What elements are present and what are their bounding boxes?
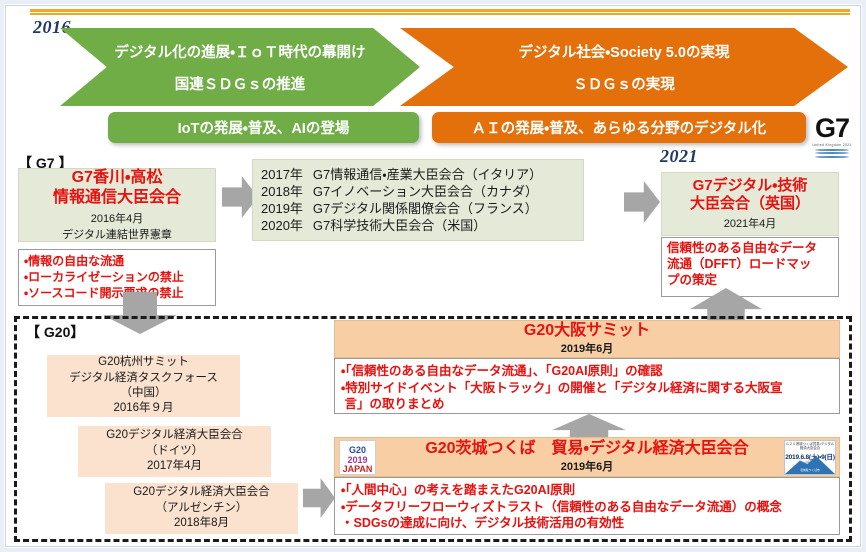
g7-uk2021-title-line1: G7デジタル・技術: [693, 177, 808, 195]
g20-event-0-line-0: G20杭州サミット: [98, 355, 189, 370]
g20-section-label: 【 G20】: [26, 322, 84, 342]
g20-event-2-line-0: G20デジタル経済大臣会合: [133, 485, 270, 500]
green-chevron-banner: デジタル化の進展・ＩｏＴ時代の幕開け 国連ＳＤＧｓの推進: [60, 28, 420, 106]
g20-japan-logo-line3: JAPAN: [343, 465, 373, 474]
g20-tsukuba-bullet-2: ・SDGsの達成に向け、デジタル技術活用の有効性: [341, 515, 833, 532]
g7-uk2021-bullet-2: プの策定: [667, 273, 833, 289]
top-rule-primary: [30, 9, 850, 12]
g7-meeting-year-2: 2019年: [261, 200, 303, 217]
orange-pill-banner: ＡＩの発展・普及、あらゆる分野のデジタル化: [432, 112, 806, 143]
g20-event-2-box: G20デジタル経済大臣会合 （アルゼンチン） 2018年8月: [105, 483, 298, 534]
g7-kagawa-bullet-2: ・ソースコード開示要求の禁止: [24, 286, 210, 302]
green-chevron-line1: デジタル化の進展・ＩｏＴ時代の幕開け: [114, 41, 365, 62]
g7-uk2021-bullet-0: 信頼性のある自由なデータ: [667, 241, 833, 257]
g7-logo-wave-2: [815, 152, 849, 154]
g20-event-1-line-1: （ドイツ）: [146, 444, 204, 459]
g20-event-2-line-2: 2018年8月: [174, 516, 229, 531]
g7-logo-wave-3: [815, 156, 849, 158]
g20-tsukuba-bullet-1: ・データフリーフローウィズトラスト（信頼性のある自由なデータ流通）の概念: [341, 499, 833, 516]
g7-uk2021-date: 2021年4月: [724, 215, 777, 231]
g7-kagawa-subtitle: デジタル連結世界憲章: [62, 226, 172, 242]
g7-meeting-name-0: G7情報通信・産業大臣会合（イタリア）: [313, 166, 542, 183]
g20-osaka-header: G20大阪サミット 2019年6月: [334, 320, 840, 358]
g20-event-0-line-3: 2016年９月: [113, 401, 173, 416]
g20-osaka-date: 2019年6月: [561, 340, 614, 356]
g7-uk2021-box: G7デジタル・技術 大臣会合（英国） 2021年4月: [661, 172, 839, 236]
g7-logo-wave-1: [815, 149, 849, 151]
g7-uk2021-bullet-1: 流通（DFFT）ロードマッ: [667, 257, 833, 273]
g20-tsukuba-bullets-box: ・「人間中心」の考えを踏まえたG20AI原則 ・データフリーフローウィズトラスト…: [334, 477, 840, 535]
g20-event-2-line-1: （アルゼンチン）: [156, 501, 248, 516]
g7-kagawa-bullet-1: ・ローカライゼーションの禁止: [24, 270, 210, 286]
g20-event-0-box: G20杭州サミット デジタル経済タスクフォース （中国） 2016年９月: [47, 355, 240, 417]
g20-event-1-line-2: 2017年4月: [147, 459, 202, 474]
g20-osaka-bullet-0: ・「信頼性のある自由なデータ流通」、「G20AI原則」の確認: [341, 363, 833, 380]
g20-tsukuba-title: G20茨城つくば 貿易・デジタル経済大臣会合: [425, 440, 748, 458]
g20-event-1-line-0: G20デジタル経済大臣会合: [106, 428, 243, 443]
green-pill-banner: IoTの発展・普及、AIの登場: [108, 112, 419, 143]
g7-uk2021-bullets-box: 信頼性のある自由なデータ 流通（DFFT）ロードマッ プの策定: [661, 237, 839, 297]
tsukuba-poster-footer: 茨城県つくば市: [785, 469, 835, 473]
infographic-page: 2016 2021 デジタル化の進展・ＩｏＴ時代の幕開け 国連ＳＤＧｓの推進 デ…: [0, 0, 866, 552]
g7-kagawa-bullet-0: ・情報の自由な流通: [24, 254, 210, 270]
g7-kagawa-box: G7香川・高松 情報通信大臣会合 2016年4月 デジタル連結世界憲章: [18, 168, 216, 242]
g20-event-0-line-2: （中国）: [121, 386, 167, 401]
tsukuba-poster-logo: Ｇ２０茨城つくば貿易・デジタル経済大臣会合 2019.6.8(土)・9(日) つ…: [784, 440, 836, 475]
g7-logo-mark: G7: [815, 115, 849, 142]
g7-meeting-year-1: 2018年: [261, 183, 303, 200]
g20-japan-logo: G20 2019 JAPAN: [339, 440, 376, 475]
g20-tsukuba-header: G20茨城つくば 貿易・デジタル経済大臣会合 2019年6月: [334, 437, 840, 477]
g7-meetings-box: 2017年 G7情報通信・産業大臣会合（イタリア） 2018年 G7イノベーショ…: [252, 159, 584, 241]
orange-chevron-line2: ＳＤＧｓの実現: [573, 73, 675, 94]
g20-osaka-title: G20大阪サミット: [524, 322, 650, 340]
g20-osaka-bullet-1: ・特別サイドイベント「大阪トラック」の開催と「デジタル経済に関する大阪宣 言」の…: [341, 380, 833, 413]
g7-uk-logo: G7 United Kingdom 2021: [808, 115, 856, 163]
orange-chevron-line1: デジタル社会・Society 5.0の実現: [519, 41, 730, 62]
g7-meeting-name-3: G7科学技術大臣会合（米国）: [313, 217, 486, 234]
g20-osaka-bullets-box: ・「信頼性のある自由なデータ流通」、「G20AI原則」の確認 ・特別サイドイベン…: [334, 358, 840, 414]
g20-event-0-line-1: デジタル経済タスクフォース: [69, 371, 218, 386]
g7-meeting-name-2: G7デジタル関係閣僚会合（フランス）: [313, 200, 538, 217]
g20-tsukuba-bullet-0: ・「人間中心」の考えを踏まえたG20AI原則: [341, 482, 833, 499]
year-label-2021: 2021: [660, 146, 698, 167]
g7-kagawa-title-line2: 情報通信大臣会合: [53, 188, 181, 208]
g7-meeting-name-1: G7イノベーション大臣会合（カナダ）: [313, 183, 538, 200]
g7-kagawa-date: 2016年4月: [91, 210, 144, 226]
g7-kagawa-title-line1: G7香川・高松: [72, 168, 163, 188]
g7-kagawa-bullets-box: ・情報の自由な流通 ・ローカライゼーションの禁止 ・ソースコード開示要求の禁止: [18, 249, 216, 306]
year-label-2016: 2016: [33, 17, 71, 38]
g20-event-1-box: G20デジタル経済大臣会合 （ドイツ） 2017年4月: [78, 426, 271, 477]
g7-meeting-year-3: 2020年: [261, 217, 303, 234]
g20-tsukuba-date: 2019年6月: [561, 458, 614, 474]
g7-meeting-year-0: 2017年: [261, 166, 303, 183]
tsukuba-poster-header: Ｇ２０茨城つくば貿易・デジタル経済大臣会合: [785, 441, 835, 451]
top-rule-secondary: [30, 13, 850, 15]
green-chevron-line2: 国連ＳＤＧｓの推進: [175, 73, 306, 94]
g7-uk2021-title-line2: 大臣会合（英国）: [690, 195, 810, 213]
g7-logo-caption: United Kingdom 2021: [812, 143, 851, 147]
tsukuba-poster-date: 2019.6.8(土)・9(日): [785, 451, 835, 461]
orange-chevron-banner: デジタル社会・Society 5.0の実現 ＳＤＧｓの実現: [400, 28, 848, 106]
